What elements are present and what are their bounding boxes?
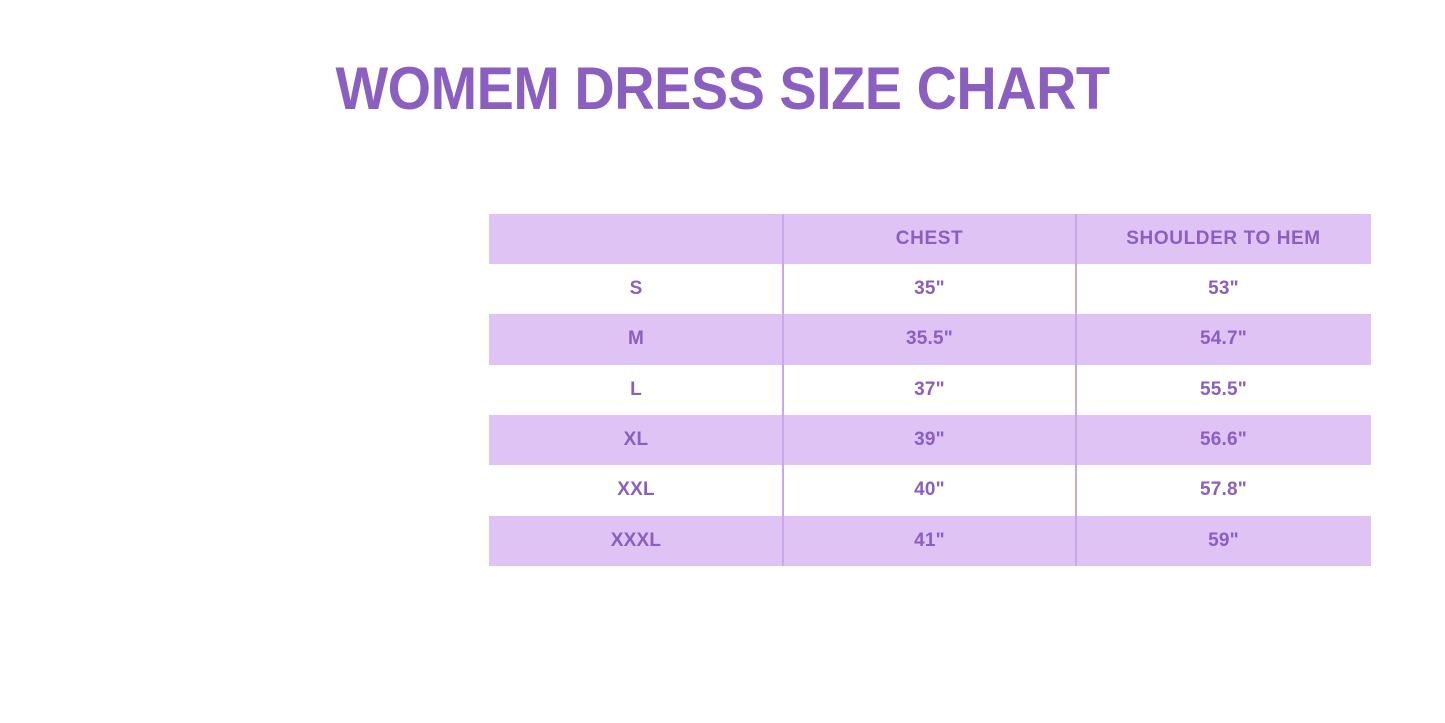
column-header-shoulder-to-hem: SHOULDER TO HEM [1076,214,1371,264]
cell-size: S [489,264,783,314]
cell-chest: 41" [783,516,1076,566]
size-chart-table: CHEST SHOULDER TO HEM S 35" 53" M 35.5" … [489,214,1371,566]
cell-chest: 40" [783,465,1076,515]
table-body: S 35" 53" M 35.5" 54.7" L 37" 55.5" XL 3… [489,264,1371,566]
cell-shoulder-to-hem: 55.5" [1076,365,1371,415]
table-header: CHEST SHOULDER TO HEM [489,214,1371,264]
page-title: WOMEM DRESS SIZE CHART [51,56,1395,122]
cell-shoulder-to-hem: 54.7" [1076,314,1371,364]
cell-size: M [489,314,783,364]
table-row: S 35" 53" [489,264,1371,314]
table-row: L 37" 55.5" [489,365,1371,415]
table-header-row: CHEST SHOULDER TO HEM [489,214,1371,264]
cell-shoulder-to-hem: 56.6" [1076,415,1371,465]
table-row: M 35.5" 54.7" [489,314,1371,364]
cell-chest: 35.5" [783,314,1076,364]
cell-shoulder-to-hem: 59" [1076,516,1371,566]
table-row: XXL 40" 57.8" [489,465,1371,515]
cell-size: L [489,365,783,415]
cell-size: XXXL [489,516,783,566]
cell-size: XL [489,415,783,465]
cell-shoulder-to-hem: 53" [1076,264,1371,314]
column-header-chest: CHEST [783,214,1076,264]
column-header-size [489,214,783,264]
cell-chest: 37" [783,365,1076,415]
cell-chest: 39" [783,415,1076,465]
cell-size: XXL [489,465,783,515]
cell-chest: 35" [783,264,1076,314]
table-row: XXXL 41" 59" [489,516,1371,566]
table-row: XL 39" 56.6" [489,415,1371,465]
cell-shoulder-to-hem: 57.8" [1076,465,1371,515]
